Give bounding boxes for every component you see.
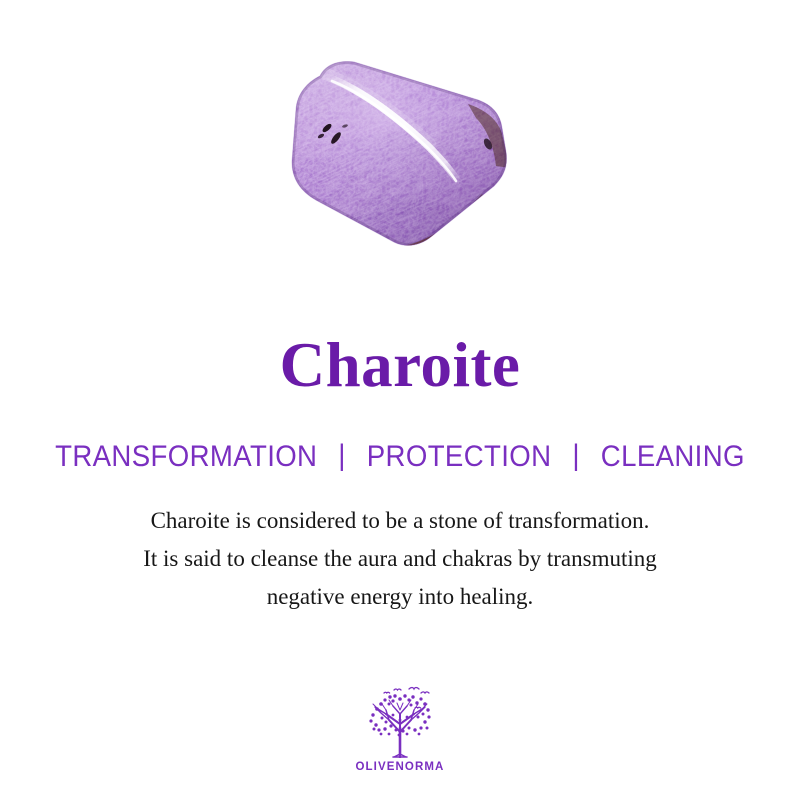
brand-logo: OLIVENORMA (0, 684, 800, 773)
tree-of-life-icon (359, 684, 441, 758)
brand-wordmark: OLIVENORMA (0, 761, 800, 773)
keyword-list: TRANSFORMATION | PROTECTION | CLEANING (32, 440, 768, 474)
stone-title: Charoite (0, 332, 800, 398)
charoite-stone-image (282, 48, 518, 258)
description-line-3: negative energy into healing. (0, 578, 800, 616)
charoite-info-card: Charoite TRANSFORMATION | PROTECTION | C… (0, 0, 800, 799)
keyword-protection: PROTECTION (367, 440, 552, 474)
charoite-stone-illustration (282, 48, 518, 258)
keyword-cleaning: CLEANING (601, 440, 745, 474)
description-line-2: It is said to cleanse the aura and chakr… (0, 540, 800, 578)
hero-image-area (0, 0, 800, 300)
stone-body (282, 48, 518, 258)
stone-description: Charoite is considered to be a stone of … (0, 502, 800, 616)
description-line-1: Charoite is considered to be a stone of … (0, 502, 800, 540)
keyword-transformation: TRANSFORMATION (55, 440, 317, 474)
keyword-separator: | (325, 439, 358, 473)
keyword-separator: | (559, 439, 592, 473)
